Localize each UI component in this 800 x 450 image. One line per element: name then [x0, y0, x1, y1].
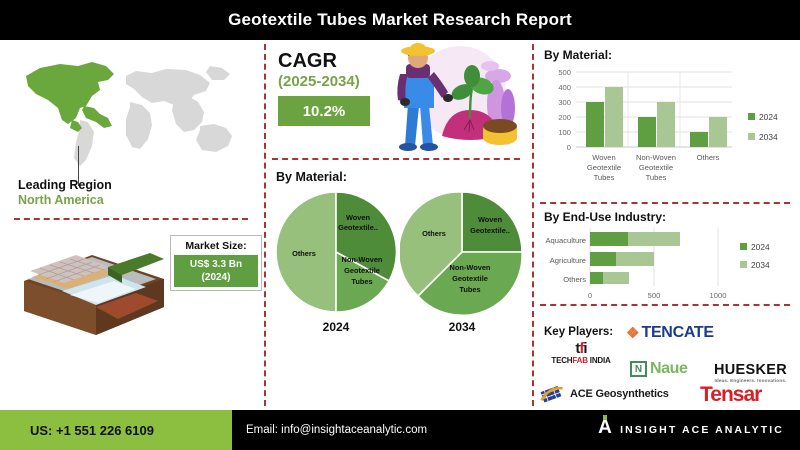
logo-tensar[interactable]: Tensar — [700, 384, 761, 406]
naue-name: Naue — [650, 360, 688, 378]
pie-2024-caption: 2024 — [274, 320, 398, 334]
svg-text:500: 500 — [648, 291, 661, 300]
divider-horizontal-right-1 — [540, 202, 790, 204]
legend-swatch-2024 — [748, 113, 755, 120]
bar-2024-others — [690, 132, 708, 147]
market-size-box: Market Size: US$ 3.3 Bn (2024) — [170, 235, 262, 291]
svg-text:0: 0 — [588, 291, 592, 300]
bar-chart-by-material: 500 400 300 200 100 0 — [536, 64, 794, 194]
hbar-section-title: By End-Use Industry: — [544, 210, 666, 224]
svg-text:Tubes: Tubes — [646, 173, 667, 182]
ace-mark-icon — [540, 384, 566, 404]
svg-text:Non-Woven: Non-Woven — [636, 153, 676, 162]
techfab-mark-icon: tfi — [542, 342, 620, 356]
farmer-illustration — [372, 42, 522, 154]
svg-text:Others: Others — [697, 153, 720, 162]
pie-2024-svg: Woven Geotextile.. Non-Woven Geotextile … — [274, 188, 398, 316]
tencate-name: TTenENCATE — [641, 324, 713, 342]
market-size-value-box: US$ 3.3 Bn (2024) — [174, 255, 258, 287]
brand-mark-icon: A — [598, 418, 612, 442]
bar-chart-svg: 500 400 300 200 100 0 — [536, 64, 794, 194]
world-map-svg — [14, 50, 250, 168]
svg-text:400: 400 — [558, 83, 571, 92]
hbar-2034-others — [603, 272, 629, 284]
svg-text:Tubes: Tubes — [594, 173, 615, 182]
pie-2024-label-nonwoven: Non-Woven — [342, 255, 383, 264]
svg-text:Geotextile..: Geotextile.. — [338, 223, 378, 232]
hbar-legend-label-2024: 2024 — [751, 242, 770, 252]
svg-text:Geotextile: Geotextile — [587, 163, 621, 172]
brand-name: INSIGHT ACE ANALYTIC — [620, 424, 784, 436]
pie-2034-label-woven: Woven — [478, 215, 503, 224]
right-panel: By Material: 500 400 300 200 — [530, 40, 800, 408]
svg-text:300: 300 — [558, 98, 571, 107]
legend-label-2034: 2034 — [759, 132, 778, 142]
cagr-label: CAGR — [278, 50, 337, 73]
techfab-name: TECHFAB INDIA — [542, 356, 620, 365]
tensar-name: Tensar — [700, 384, 761, 406]
leading-region-label: Leading Region — [18, 178, 112, 192]
divider-horizontal-middle — [272, 158, 520, 160]
huesker-name: HUESKER — [714, 362, 787, 378]
pie-charts-group: Woven Geotextile.. Non-Woven Geotextile … — [268, 188, 526, 338]
pie-2024-label-woven: Woven — [346, 213, 371, 222]
key-players-group: Key Players: ❖ TTenENCATE tfi TECHFAB IN… — [536, 326, 798, 412]
hbar-legend-label-2034: 2034 — [751, 260, 770, 270]
svg-text:Tubes: Tubes — [459, 285, 480, 294]
svg-text:Geotextile: Geotextile — [344, 266, 380, 275]
logo-huesker[interactable]: HUESKER Ideas. Engineers. Innovations. — [714, 362, 787, 383]
svg-text:Tubes: Tubes — [351, 277, 372, 286]
hbar-2024-others — [590, 272, 603, 284]
naue-mark-icon: N — [630, 361, 647, 377]
leading-region-value: North America — [18, 193, 104, 207]
world-map — [14, 50, 250, 168]
bar-2024-woven — [586, 102, 604, 147]
infographic-root: Geotextile Tubes Market Research Report — [0, 0, 800, 450]
pie-2034-svg: Woven Geotextile.. Non-Woven Geotextile … — [400, 188, 524, 316]
svg-text:100: 100 — [558, 128, 571, 137]
footer-email[interactable]: Email: info@insightaceanalytic.com — [246, 424, 427, 436]
svg-text:1000: 1000 — [710, 291, 727, 300]
legend-label-2024: 2024 — [759, 112, 778, 122]
market-size-title: Market Size: — [185, 240, 246, 252]
page-header: Geotextile Tubes Market Research Report — [0, 0, 800, 40]
hbar-cat-others: Others — [563, 275, 586, 284]
key-players-label: Key Players: — [544, 326, 613, 338]
farmer-illustration-svg — [372, 42, 522, 154]
svg-text:0: 0 — [567, 143, 571, 152]
tencate-mark-icon: ❖ — [626, 326, 639, 341]
hbar-legend-swatch-2024 — [740, 243, 747, 250]
logo-naue[interactable]: N Naue — [630, 360, 688, 378]
hbar-cat-aquaculture: Aquaculture — [545, 236, 586, 245]
logo-techfab-india[interactable]: tfi TECHFAB INDIA — [542, 342, 620, 365]
pie-section-title: By Material: — [276, 170, 347, 184]
cagr-years: (2025-2034) — [278, 73, 360, 90]
hbar-2034-agriculture — [616, 252, 654, 266]
bar-2024-nonwoven — [638, 117, 656, 147]
middle-panel: CAGR (2025-2034) 10.2% — [262, 40, 530, 408]
hbar-2034-aquaculture — [628, 232, 680, 246]
pie-chart-2034: Woven Geotextile.. Non-Woven Geotextile … — [400, 188, 524, 321]
market-size-year: (2024) — [202, 271, 231, 284]
svg-text:200: 200 — [558, 113, 571, 122]
divider-horizontal-right-2 — [540, 304, 790, 306]
geotextile-cross-section-image — [18, 235, 168, 345]
divider-horizontal-left — [14, 218, 248, 220]
svg-text:500: 500 — [558, 68, 571, 77]
svg-text:Geotextile: Geotextile — [452, 274, 488, 283]
footer-bar: Email: info@insightaceanalytic.com A INS… — [232, 410, 800, 450]
page-title: Geotextile Tubes Market Research Report — [228, 10, 572, 30]
footer-phone[interactable]: US: +1 551 226 6109 — [0, 410, 232, 450]
svg-text:Woven: Woven — [592, 153, 616, 162]
pie-chart-2024: Woven Geotextile.. Non-Woven Geotextile … — [274, 188, 398, 321]
hbar-2024-agriculture — [590, 252, 616, 266]
ace-name: ACE Geosynthetics — [570, 388, 669, 400]
market-size-value: US$ 3.3 Bn — [190, 258, 242, 271]
bar-chart-by-end-use: Aquaculture Agriculture Others 0 500 100… — [532, 226, 794, 308]
cagr-value-badge: 10.2% — [278, 96, 370, 126]
footer-brand-logo: A INSIGHT ACE ANALYTIC — [598, 418, 784, 442]
bar-2034-woven — [605, 87, 623, 147]
bar-2034-others — [709, 117, 727, 147]
svg-text:Geotextile: Geotextile — [639, 163, 673, 172]
brand-letter: A — [598, 418, 612, 437]
pie-2034-label-others: Others — [422, 229, 446, 238]
logo-tencate[interactable]: ❖ TTenENCATE — [626, 324, 714, 342]
legend-swatch-2034 — [748, 133, 755, 140]
logo-ace-geosynthetics[interactable]: ACE Geosynthetics — [540, 384, 669, 404]
hbar-chart-svg: Aquaculture Agriculture Others 0 500 100… — [532, 226, 794, 308]
hbar-legend-swatch-2034 — [740, 261, 747, 268]
cross-section-svg — [18, 235, 168, 345]
bar-2034-nonwoven — [657, 102, 675, 147]
page-footer: US: +1 551 226 6109 Email: info@insighta… — [0, 410, 800, 450]
bar-section-title: By Material: — [544, 48, 612, 62]
hbar-cat-agriculture: Agriculture — [550, 256, 586, 265]
svg-text:Geotextile..: Geotextile.. — [470, 226, 510, 235]
pie-2024-label-others: Others — [292, 249, 316, 258]
left-panel: Leading Region North America — [0, 40, 262, 408]
pie-2034-label-nonwoven: Non-Woven — [450, 263, 491, 272]
pie-2034-caption: 2034 — [400, 320, 524, 334]
hbar-2024-aquaculture — [590, 232, 628, 246]
brand-dot-icon — [603, 415, 607, 420]
